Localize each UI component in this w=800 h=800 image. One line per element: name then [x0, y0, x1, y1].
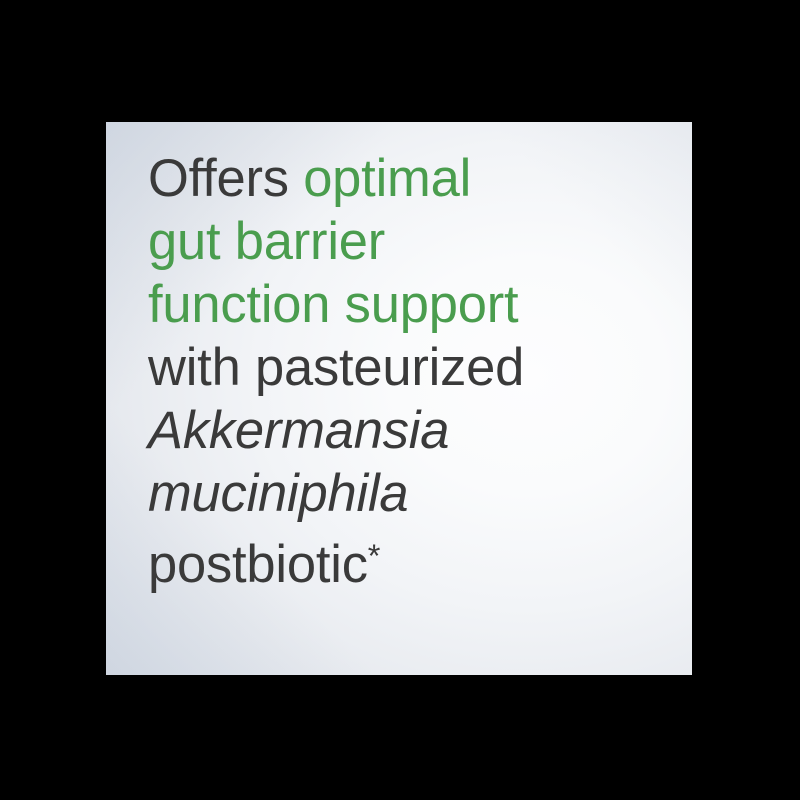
headline-segment-gut-barrier: gut barrier — [148, 212, 385, 271]
headline-segment-offers: Offers — [148, 149, 303, 208]
headline-line-7: postbiotic* — [148, 525, 682, 596]
headline-line-4: with pasteurized — [148, 336, 682, 399]
headline-segment-function-support: function support — [148, 275, 518, 334]
headline-line-1: Offers optimal — [148, 147, 682, 210]
headline-segment-genus: Akkermansia — [148, 401, 449, 460]
headline-block: Offers optimal gut barrier function supp… — [148, 147, 682, 596]
slide-canvas: Offers optimal gut barrier function supp… — [0, 0, 800, 800]
headline-segment-postbiotic: postbiotic — [148, 535, 368, 594]
headline-line-2: gut barrier — [148, 210, 682, 273]
headline-line-6: muciniphila — [148, 462, 682, 525]
headline-line-5: Akkermansia — [148, 399, 682, 462]
headline-segment-optimal: optimal — [303, 149, 471, 208]
footnote-marker-asterisk: * — [368, 538, 381, 574]
headline-segment-with-pasteurized: with pasteurized — [148, 338, 524, 397]
headline-segment-species: muciniphila — [148, 464, 408, 523]
content-card: Offers optimal gut barrier function supp… — [106, 122, 692, 675]
headline-line-3: function support — [148, 273, 682, 336]
